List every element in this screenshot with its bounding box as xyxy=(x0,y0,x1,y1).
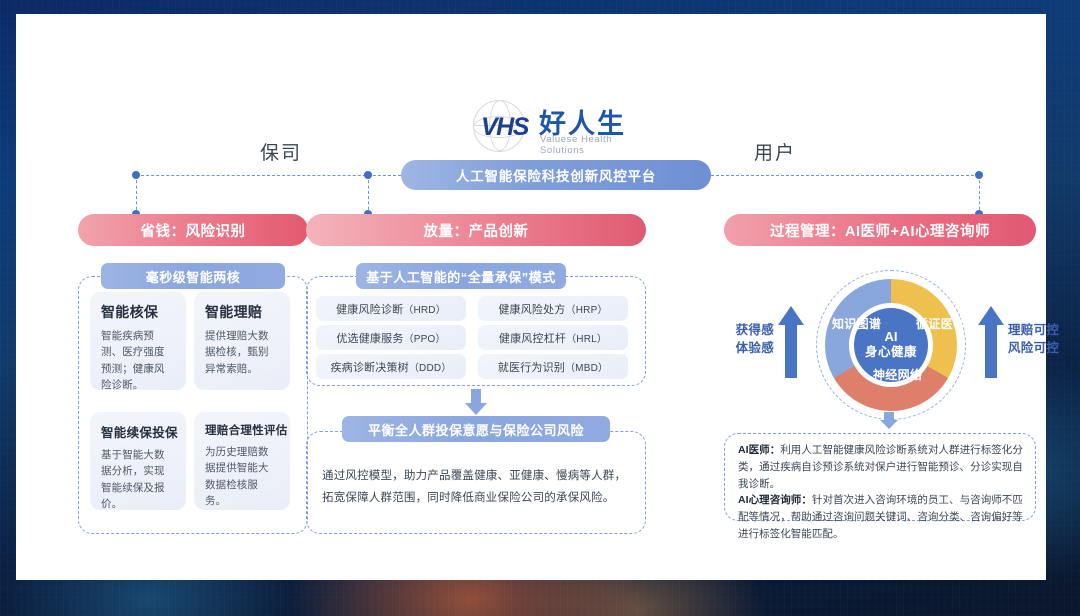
label-insurer: 保司 xyxy=(260,138,302,165)
brand-mark: VHS xyxy=(481,113,528,142)
down-arrow-icon xyxy=(465,389,487,415)
label-user: 用户 xyxy=(754,138,796,165)
donut-segment-knowledge-graph: 知识图谱 xyxy=(832,317,881,331)
grid-item-label: 健康风险处方 xyxy=(498,301,565,317)
arrow-note-right-line-2: 风险可控 xyxy=(1008,340,1070,358)
connector-mid-down xyxy=(368,175,369,215)
grid-item-ddd[interactable]: 疾病诊断决策树（DDD） xyxy=(316,354,466,379)
card-title: 理赔合理性评估 xyxy=(205,422,279,438)
ai-health-donut-chart: AI 身心健康 知识图谱 循证医学 神经网络 xyxy=(816,270,966,420)
connector-left-down xyxy=(136,175,137,215)
node-mid-top xyxy=(364,171,372,179)
connector-right-down xyxy=(979,175,980,215)
brand-name-en: Valuese Health Solutions xyxy=(540,134,641,156)
grid-item-code: （DDD） xyxy=(409,359,452,374)
up-arrow-left-icon xyxy=(778,306,804,378)
note-ai-doctor: AI医师：利用人工智能健康风险诊断系统对人群进行标签化分类，通过疾病自诊预诊系统… xyxy=(738,442,1024,492)
note-ai-counselor: AI心理咨询师：针对首次进入咨询环境的员工、与咨询师不匹配等情况，帮助通过咨询问… xyxy=(738,492,1024,542)
card-desc: 基于智能大数据分析，实现智能续保及报价。 xyxy=(101,447,175,512)
up-arrow-right-icon xyxy=(978,306,1004,378)
grid-item-label: 疾病诊断决策树 xyxy=(330,359,408,375)
mid-result-chip: 平衡全人群投保意愿与保险公司风险 xyxy=(342,416,610,442)
grid-item-hrp[interactable]: 健康风险处方（HRP） xyxy=(478,296,628,321)
down-arrow-right-icon xyxy=(880,412,898,430)
arrow-note-left-line-1: 获得感 xyxy=(722,322,774,340)
arrow-note-right: 理赔可控 风险可控 xyxy=(1008,322,1070,357)
note-ai-doctor-text: 利用人工智能健康风险诊断系统对人群进行标签化分类，通过疾病自诊预诊系统对保户进行… xyxy=(738,444,1023,490)
card-title: 智能续保投保 xyxy=(101,422,175,441)
right-notes-text: AI医师：利用人工智能健康风险诊断系统对人群进行标签化分类，通过疾病自诊预诊系统… xyxy=(738,442,1024,543)
grid-item-ppo[interactable]: 优选健康服务（PPO） xyxy=(316,325,466,350)
arrow-note-left: 获得感 体验感 xyxy=(722,322,774,357)
grid-item-code: （HRD） xyxy=(403,301,446,316)
mid-result-line-2: 拓宽保障人群范围，同时降低商业保险公司的承保风险。 xyxy=(322,487,632,509)
donut-segment-neural-network: 神经网络 xyxy=(873,368,922,382)
mid-result-line-1: 通过风控模型，助力产品覆盖健康、亚健康、慢病等人群， xyxy=(322,465,632,487)
slide-canvas: VHS 好人生 Valuese Health Solutions 保司 用户 人… xyxy=(16,14,1046,580)
left-column-chip: 毫秒级智能两核 xyxy=(101,263,285,289)
grid-item-hrl[interactable]: 健康风控杠杆（HRL） xyxy=(478,325,628,350)
grid-item-label: 优选健康服务 xyxy=(336,330,403,346)
section-pill-process-management[interactable]: 过程管理：AI医师+AI心理咨询师 xyxy=(724,214,1036,246)
note-ai-counselor-label: AI心理咨询师： xyxy=(738,494,812,506)
grid-item-code: （PPO） xyxy=(404,330,446,345)
grid-item-label: 健康风控杠杆 xyxy=(499,330,566,346)
card-desc: 提供理赔大数据检核，甄别异常索赔。 xyxy=(205,328,279,377)
arrow-note-right-line-1: 理赔可控 xyxy=(1008,322,1070,340)
mid-column-chip: 基于人工智能的“全量承保”模式 xyxy=(356,263,566,289)
brand-logo: VHS 好人生 Valuese Health Solutions xyxy=(471,100,641,152)
card-title: 智能理赔 xyxy=(205,302,279,322)
donut-center-line-2: 身心健康 xyxy=(865,345,917,361)
note-ai-doctor-label: AI医师： xyxy=(738,444,780,456)
grid-item-label: 就医行为识别 xyxy=(498,359,565,375)
card-desc: 为历史理赔数据提供智能大数据检核服务。 xyxy=(205,444,279,509)
grid-item-code: （MBD） xyxy=(565,359,608,374)
donut-center-line-1: AI xyxy=(885,329,898,345)
node-left-corner xyxy=(132,171,140,179)
section-pill-product-innovation[interactable]: 放量：产品创新 xyxy=(306,214,646,246)
section-pill-risk-identification[interactable]: 省钱：风险识别 xyxy=(78,214,308,246)
grid-item-label: 健康风险诊断 xyxy=(336,301,403,317)
grid-item-code: （HRL） xyxy=(566,330,607,345)
mid-result-text: 通过风控模型，助力产品覆盖健康、亚健康、慢病等人群， 拓宽保障人群范围，同时降低… xyxy=(322,465,632,510)
card-intelligent-underwriting[interactable]: 智能核保 智能疾病预测、医疗强度预测；健康风险诊断。 xyxy=(90,292,186,390)
card-intelligent-renewal[interactable]: 智能续保投保 基于智能大数据分析，实现智能续保及报价。 xyxy=(90,412,186,510)
card-claims-reasonableness[interactable]: 理赔合理性评估 为历史理赔数据提供智能大数据检核服务。 xyxy=(194,412,290,510)
connector-right-top xyxy=(711,175,979,176)
grid-item-hrd[interactable]: 健康风险诊断（HRD） xyxy=(316,296,466,321)
arrow-note-left-line-2: 体验感 xyxy=(722,340,774,358)
donut-segment-evidence-medicine: 循证医学 xyxy=(916,317,965,331)
grid-item-mbd[interactable]: 就医行为识别（MBD） xyxy=(478,354,628,379)
connector-left-top xyxy=(136,175,401,176)
card-title: 智能核保 xyxy=(101,302,175,322)
platform-title-pill: 人工智能保险科技创新风控平台 xyxy=(401,160,711,190)
node-right-corner xyxy=(975,171,983,179)
card-intelligent-claims[interactable]: 智能理赔 提供理赔大数据检核，甄别异常索赔。 xyxy=(194,292,290,390)
card-desc: 智能疾病预测、医疗强度预测；健康风险诊断。 xyxy=(101,328,175,393)
grid-item-code: （HRP） xyxy=(566,301,608,316)
